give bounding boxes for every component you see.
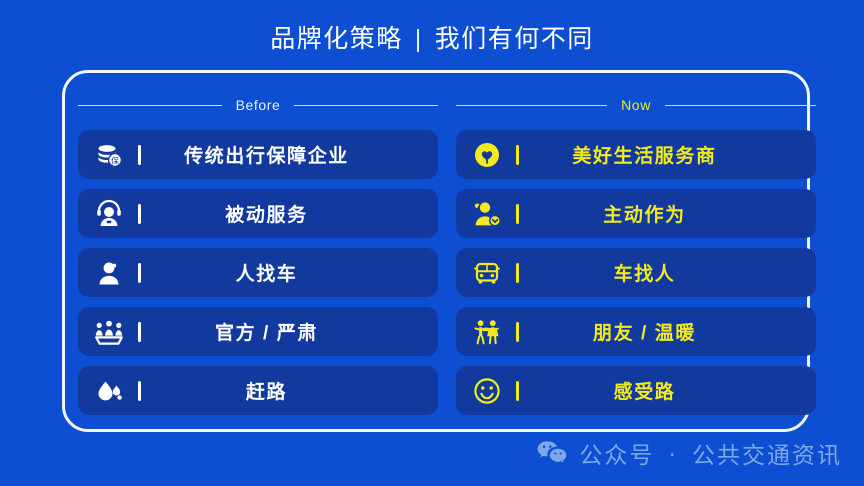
list-item[interactable]: 赶路 xyxy=(78,366,438,415)
list-item-label: 主动作为 xyxy=(519,200,770,227)
footer-account-name: 公共交通资讯 xyxy=(692,436,842,470)
column-header-now: Now xyxy=(456,88,816,122)
list-item[interactable]: 主动作为 xyxy=(456,189,816,238)
smiley-face-icon xyxy=(472,376,502,406)
list-item-label: 感受路 xyxy=(519,377,770,404)
list-item[interactable]: 人找车 xyxy=(78,248,438,297)
list-item-label: 美好生活服务商 xyxy=(519,141,770,168)
heart-sprout-circle-icon xyxy=(472,140,502,170)
list-item-label: 官方 / 严肃 xyxy=(141,318,392,345)
header-rule-right xyxy=(294,105,438,106)
footer-separator: · xyxy=(668,440,678,467)
page-title-sub: 我们有何不同 xyxy=(435,25,594,53)
header-rule-left xyxy=(78,105,222,106)
headset-support-icon xyxy=(94,199,124,229)
list-item[interactable]: 保 传统出行保障企业 xyxy=(78,130,438,179)
footer-account-label: 公众号 xyxy=(579,436,654,470)
column-header-before: Before xyxy=(78,88,438,122)
column-header-label: Before xyxy=(232,97,285,113)
column-header-label: Now xyxy=(617,97,655,113)
list-item[interactable]: 车找人 xyxy=(456,248,816,297)
list-item[interactable]: 感受路 xyxy=(456,366,816,415)
svg-text:保: 保 xyxy=(111,155,119,165)
list-item[interactable]: 朋友 / 温暖 xyxy=(456,307,816,356)
person-icon xyxy=(94,258,124,288)
list-item[interactable]: 官方 / 严肃 xyxy=(78,307,438,356)
bus-icon xyxy=(472,258,502,288)
header-rule-right xyxy=(665,105,816,106)
list-item-label: 人找车 xyxy=(141,259,392,286)
sweat-drops-icon xyxy=(94,376,124,406)
list-item-label: 朋友 / 温暖 xyxy=(519,318,770,345)
list-item[interactable]: 美好生活服务商 xyxy=(456,130,816,179)
list-item[interactable]: 被动服务 xyxy=(78,189,438,238)
list-item-label: 传统出行保障企业 xyxy=(141,141,392,168)
column-before: Before 保 传统出行保 xyxy=(78,88,438,415)
page-title-separator: | xyxy=(415,22,423,56)
column-now: Now 美好生活服务商 xyxy=(456,88,816,415)
service-person-icon xyxy=(472,199,502,229)
footer-watermark: 公众号 · 公共交通资讯 xyxy=(537,436,842,470)
list-item-label: 车找人 xyxy=(519,259,770,286)
list-item-label: 赶路 xyxy=(141,377,392,404)
rows-now: 美好生活服务商 主动作为 xyxy=(456,130,816,415)
two-people-holding-hands-icon xyxy=(472,317,502,347)
comparison-columns: Before 保 传统出行保 xyxy=(78,88,816,415)
slide-root: 品牌化策略|我们有何不同 Before xyxy=(0,0,864,486)
wechat-icon xyxy=(537,440,567,466)
page-title: 品牌化策略|我们有何不同 xyxy=(0,22,864,56)
page-title-main: 品牌化策略 xyxy=(270,25,403,53)
meeting-table-icon xyxy=(94,317,124,347)
header-rule-left xyxy=(456,105,607,106)
list-item-label: 被动服务 xyxy=(141,200,392,227)
rows-before: 保 传统出行保障企业 xyxy=(78,130,438,415)
coins-insurance-icon: 保 xyxy=(94,140,124,170)
